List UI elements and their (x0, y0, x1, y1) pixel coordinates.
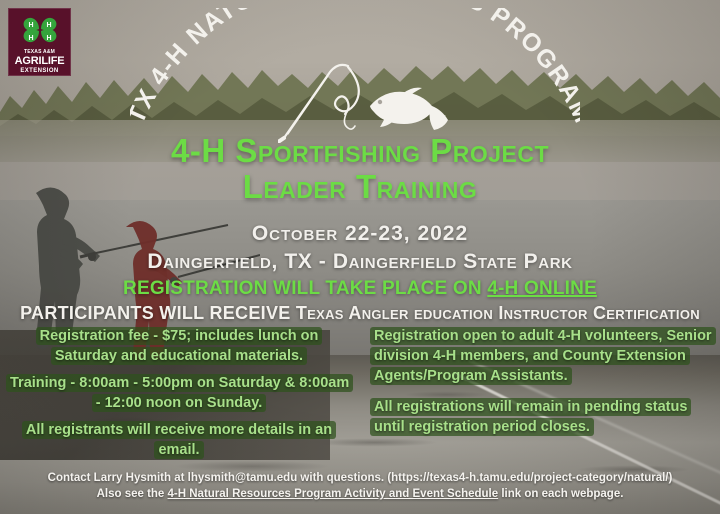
info-paragraph: Registration fee - $75; includes lunch o… (6, 326, 352, 366)
info-paragraph: Training - 8:00am - 5:00pm on Saturday &… (6, 373, 352, 413)
logo-wordmark: TEXAS A&M AGRILIFE EXTENSION (15, 50, 65, 74)
footer-line-2: Also see the 4-H Natural Resources Progr… (0, 486, 720, 502)
footer-line-2-prefix: Also see the (97, 488, 168, 500)
logo-line-3: EXTENSION (15, 68, 65, 74)
participants-certification-note: PARTICIPANTS WILL RECEIVE Texas Angler e… (0, 303, 720, 324)
four-h-clover-icon: HH HH (20, 13, 60, 49)
svg-text:H: H (28, 35, 33, 42)
svg-text:H: H (46, 35, 51, 42)
info-column-left: Registration fee - $75; includes lunch o… (0, 326, 358, 456)
info-columns: Registration fee - $75; includes lunch o… (0, 326, 720, 456)
title-line-1: 4-H Sportfishing Project (171, 132, 549, 169)
registration-notice: REGISTRATION WILL TAKE PLACE ON 4-H ONLI… (0, 278, 720, 300)
info-paragraph: Registration open to adult 4-H volunteer… (370, 326, 714, 386)
info-paragraph: All registrants will receive more detail… (6, 420, 352, 460)
info-paragraph: All registrations will remain in pending… (370, 397, 714, 437)
texas-am-agrilife-extension-logo: HH HH TEXAS A&M AGRILIFE EXTENSION (8, 8, 71, 76)
footer-contact: Contact Larry Hysmith at lhysmith@tamu.e… (0, 470, 720, 502)
info-paragraph-text: All registrations will remain in pending… (370, 398, 691, 436)
info-paragraph-text: Registration open to adult 4-H volunteer… (370, 327, 716, 385)
registration-notice-prefix: REGISTRATION WILL TAKE PLACE ON (123, 278, 487, 299)
four-h-online-link[interactable]: 4-H ONLINE (487, 278, 597, 299)
info-paragraph-text: All registrants will receive more detail… (22, 421, 336, 459)
svg-text:H: H (28, 22, 33, 29)
logo-line-2: AGRILIFE (15, 56, 65, 67)
fishing-rod-and-fish-illustration (278, 58, 468, 143)
event-location: Daingerfield, TX - Daingerfield State Pa… (0, 250, 720, 274)
info-column-right: Registration open to adult 4-H volunteer… (362, 326, 720, 456)
footer-line-1: Contact Larry Hysmith at lhysmith@tamu.e… (0, 470, 720, 486)
info-paragraph-text: Registration fee - $75; includes lunch o… (36, 327, 323, 365)
info-paragraph-text: Training - 8:00am - 5:00pm on Saturday &… (6, 374, 353, 412)
footer-line-2-suffix: link on each webpage. (498, 488, 623, 500)
page-title: 4-H Sportfishing Project Leader Training (0, 133, 720, 205)
event-date: October 22-23, 2022 (0, 222, 720, 246)
svg-text:H: H (46, 22, 51, 29)
poster-flyer: HH HH TEXAS A&M AGRILIFE EXTENSION TX 4-… (0, 0, 720, 514)
activity-schedule-link[interactable]: 4-H Natural Resources Program Activity a… (168, 488, 499, 500)
title-line-2: Leader Training (0, 169, 720, 205)
